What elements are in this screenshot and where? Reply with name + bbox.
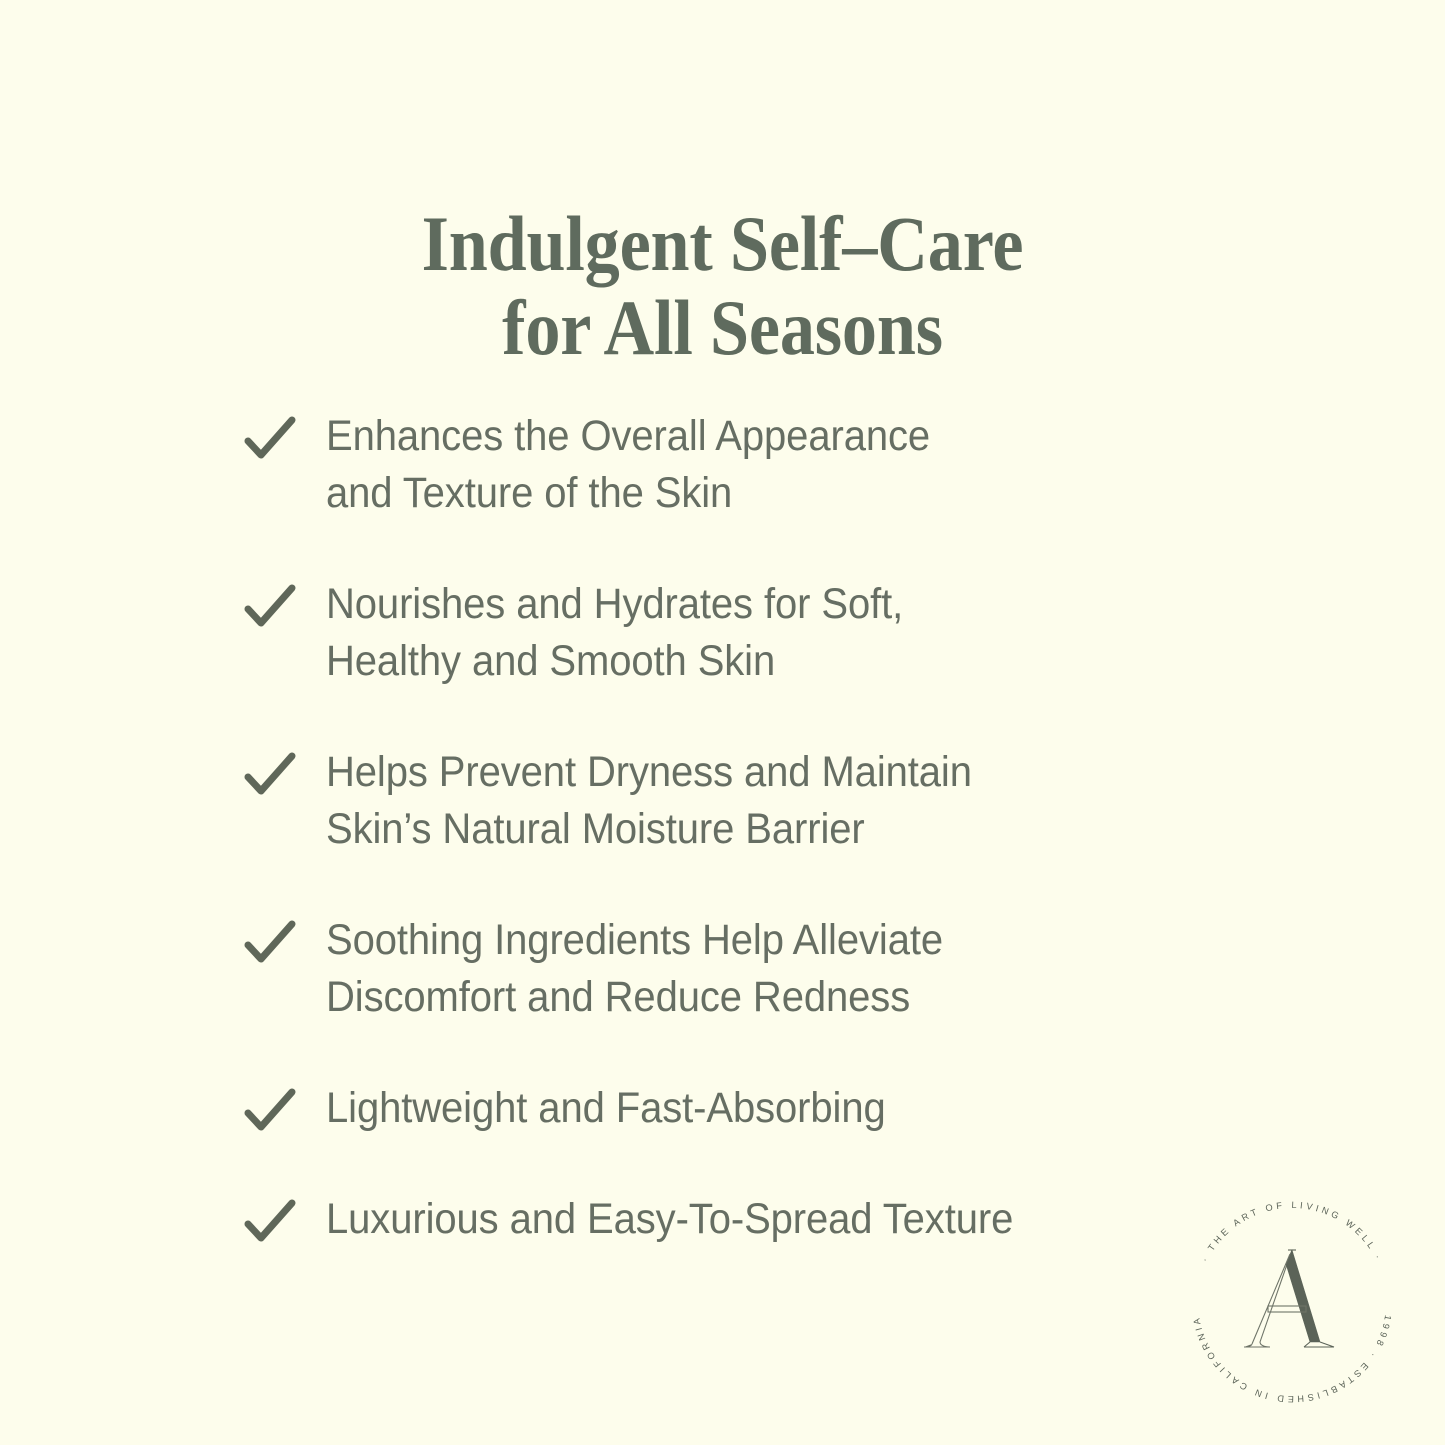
benefit-line-1: Helps Prevent Dryness and Maintain	[326, 744, 1139, 801]
page-title-line-1: Indulgent Self–Care	[72, 202, 1373, 286]
list-item: Soothing Ingredients Help Alleviate Disc…	[240, 912, 1200, 1026]
list-item: Helps Prevent Dryness and Maintain Skin’…	[240, 744, 1200, 858]
check-icon	[244, 1199, 296, 1245]
check-icon	[244, 584, 296, 630]
benefit-line-1: Luxurious and Easy-To-Spread Texture	[326, 1191, 1139, 1248]
seal-monogram-a	[1244, 1250, 1334, 1347]
benefit-text: Helps Prevent Dryness and Maintain Skin’…	[326, 744, 1139, 858]
benefit-line-2: Discomfort and Reduce Redness	[326, 969, 1139, 1026]
brand-seal-logo: · THE ART OF LIVING WELL · 1998 · ESTABL…	[1182, 1192, 1402, 1412]
list-item: Nourishes and Hydrates for Soft, Healthy…	[240, 576, 1200, 690]
page-title-line-2: for All Seasons	[72, 286, 1373, 370]
check-icon	[244, 416, 296, 462]
benefit-text: Luxurious and Easy-To-Spread Texture	[326, 1191, 1139, 1248]
list-item: Lightweight and Fast-Absorbing	[240, 1080, 1200, 1137]
check-icon	[244, 920, 296, 966]
list-item: Luxurious and Easy-To-Spread Texture	[240, 1191, 1200, 1248]
benefit-line-2: Skin’s Natural Moisture Barrier	[326, 801, 1139, 858]
promo-graphic: Indulgent Self–Care for All Seasons Enha…	[0, 0, 1445, 1445]
list-item: Enhances the Overall Appearance and Text…	[240, 408, 1200, 522]
benefit-text: Enhances the Overall Appearance and Text…	[326, 408, 1139, 522]
benefit-line-2: and Texture of the Skin	[326, 465, 1139, 522]
benefit-line-1: Soothing Ingredients Help Alleviate	[326, 912, 1139, 969]
benefit-line-1: Lightweight and Fast-Absorbing	[326, 1080, 1139, 1137]
benefit-text: Nourishes and Hydrates for Soft, Healthy…	[326, 576, 1139, 690]
benefit-line-2: Healthy and Smooth Skin	[326, 633, 1139, 690]
seal-arc-bottom-text: 1998 · ESTABLISHED IN CALIFORNIA	[1191, 1314, 1393, 1404]
benefit-line-1: Enhances the Overall Appearance	[326, 408, 1139, 465]
benefit-text: Soothing Ingredients Help Alleviate Disc…	[326, 912, 1139, 1026]
check-icon	[244, 1088, 296, 1134]
benefit-text: Lightweight and Fast-Absorbing	[326, 1080, 1139, 1137]
benefit-line-1: Nourishes and Hydrates for Soft,	[326, 576, 1139, 633]
benefits-list: Enhances the Overall Appearance and Text…	[240, 408, 1200, 1248]
check-icon	[244, 752, 296, 798]
page-title: Indulgent Self–Care for All Seasons	[72, 202, 1373, 370]
